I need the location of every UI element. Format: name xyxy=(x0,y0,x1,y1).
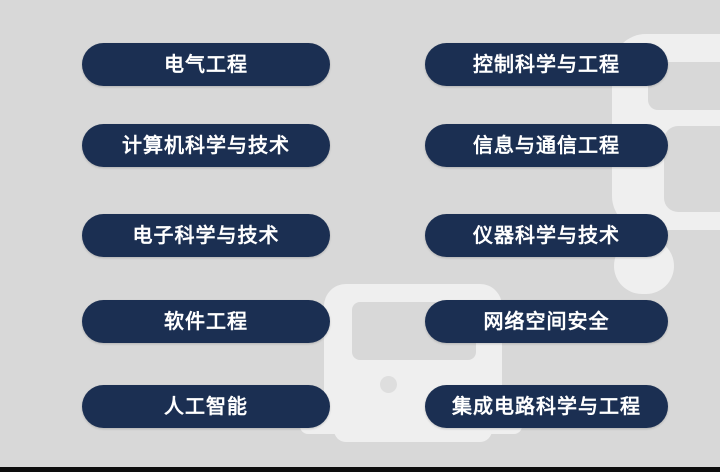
discipline-pill-label: 电子科学与技术 xyxy=(133,226,280,246)
discipline-pill-control-science[interactable]: 控制科学与工程 xyxy=(425,43,668,86)
discipline-pill-software-engineering[interactable]: 软件工程 xyxy=(82,300,330,343)
discipline-pill-label: 计算机科学与技术 xyxy=(122,136,290,156)
discipline-pill-label: 网络空间安全 xyxy=(484,312,610,332)
discipline-pill-label: 信息与通信工程 xyxy=(473,136,620,156)
discipline-pill-label: 人工智能 xyxy=(164,397,248,417)
discipline-pill-integrated-circuit[interactable]: 集成电路科学与工程 xyxy=(425,385,668,428)
bottom-bar xyxy=(0,467,720,472)
discipline-pill-cyberspace-security[interactable]: 网络空间安全 xyxy=(425,300,668,343)
discipline-pill-label: 电气工程 xyxy=(164,55,248,75)
discipline-pill-label: 集成电路科学与工程 xyxy=(452,397,641,417)
discipline-pill-label: 软件工程 xyxy=(164,312,248,332)
pill-grid: 电气工程 计算机科学与技术 电子科学与技术 软件工程 人工智能 控制科学与工程 … xyxy=(0,0,720,472)
discipline-pill-instrument-science[interactable]: 仪器科学与技术 xyxy=(425,214,668,257)
discipline-pill-computer-science[interactable]: 计算机科学与技术 xyxy=(82,124,330,167)
discipline-pill-information-communication[interactable]: 信息与通信工程 xyxy=(425,124,668,167)
discipline-pill-board: 电气工程 计算机科学与技术 电子科学与技术 软件工程 人工智能 控制科学与工程 … xyxy=(0,0,720,472)
discipline-pill-label: 控制科学与工程 xyxy=(473,55,620,75)
discipline-pill-label: 仪器科学与技术 xyxy=(473,226,620,246)
discipline-pill-electronic-science[interactable]: 电子科学与技术 xyxy=(82,214,330,257)
discipline-pill-electrical-engineering[interactable]: 电气工程 xyxy=(82,43,330,86)
discipline-pill-artificial-intelligence[interactable]: 人工智能 xyxy=(82,385,330,428)
